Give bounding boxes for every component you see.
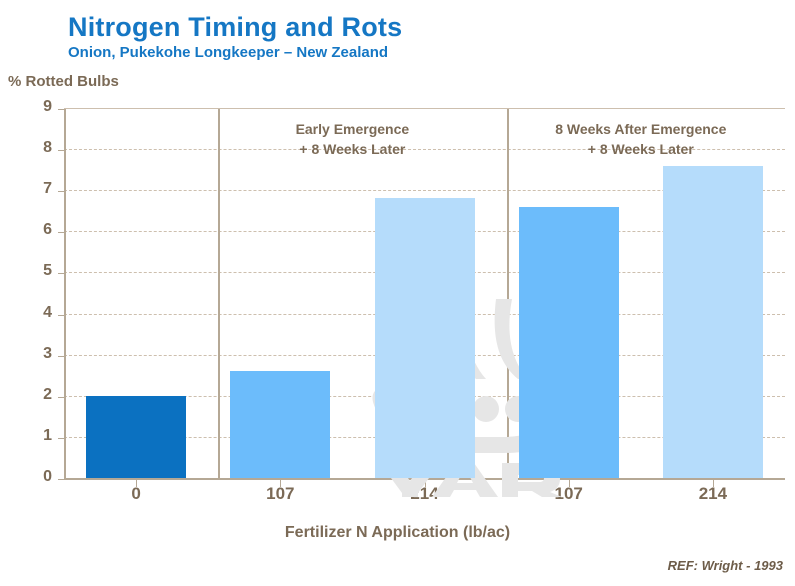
y-axis-label: % Rotted Bulbs [8, 73, 119, 90]
x-tick-label: 214 [375, 484, 475, 504]
bar [230, 371, 330, 478]
plot-area: 0123456789 [64, 109, 785, 479]
bar [375, 198, 475, 478]
bar [663, 166, 763, 478]
y-tick-label: 3 [16, 345, 52, 363]
y-tick-label: 9 [16, 98, 52, 116]
reference-note: REF: Wright - 1993 [668, 558, 783, 573]
y-tick-label: 4 [16, 304, 52, 322]
y-tick-label: 7 [16, 180, 52, 198]
y-tick-label: 6 [16, 221, 52, 239]
bars-layer [64, 109, 785, 479]
y-tick-label: 5 [16, 262, 52, 280]
x-axis-title: Fertilizer N Application (lb/ac) [0, 524, 795, 542]
y-tick-label: 1 [16, 427, 52, 445]
y-tick-label: 2 [16, 386, 52, 404]
x-tick-label: 0 [86, 484, 186, 504]
bar [86, 396, 186, 478]
chart-title: Nitrogen Timing and Rots [68, 12, 402, 43]
y-tick-label: 8 [16, 139, 52, 157]
chart-container: Nitrogen Timing and Rots Onion, Pukekohe… [0, 0, 795, 586]
chart-subtitle: Onion, Pukekohe Longkeeper – New Zealand [68, 44, 388, 61]
x-tick-label: 214 [663, 484, 763, 504]
bar [519, 207, 619, 478]
y-tick-label: 0 [16, 468, 52, 486]
x-tick-label: 107 [230, 484, 330, 504]
x-tick-label: 107 [519, 484, 619, 504]
